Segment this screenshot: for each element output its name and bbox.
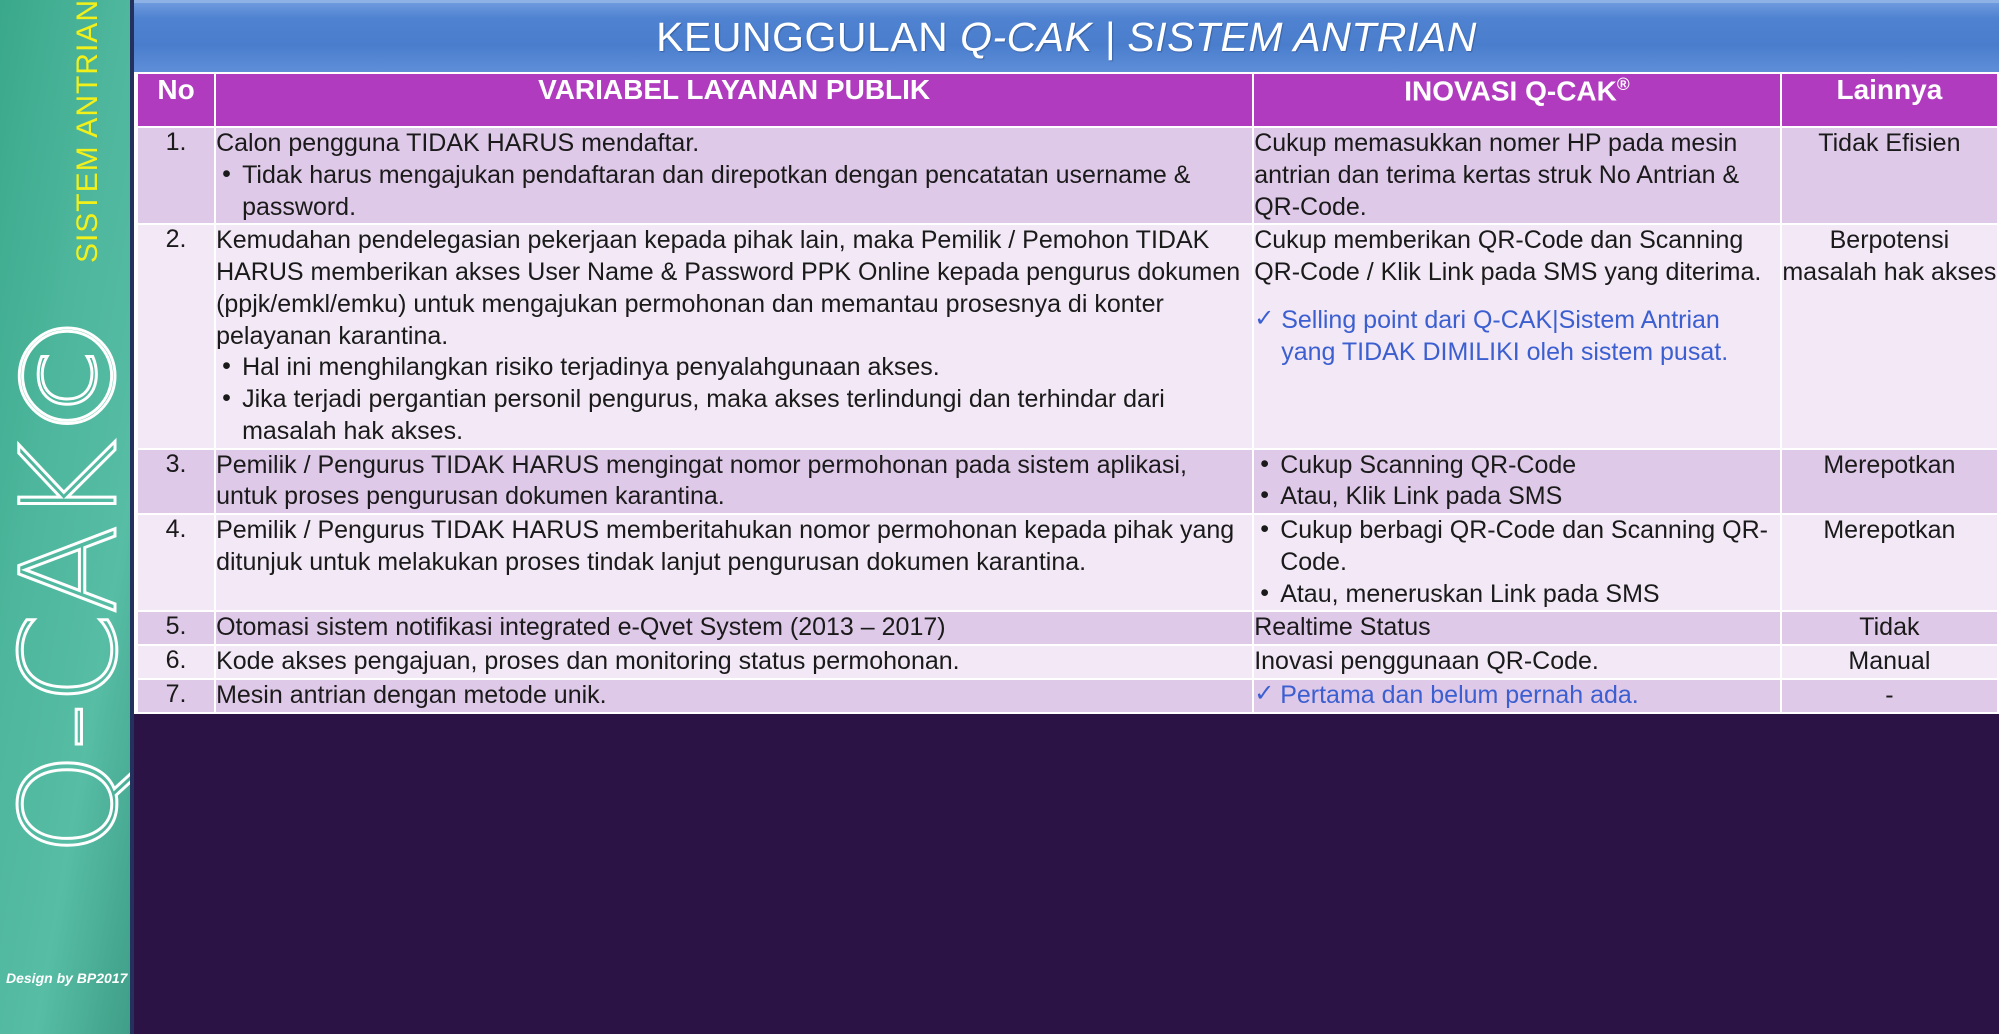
cell-no: 4. [138,515,214,610]
cell-variabel: Kemudahan pendelegasian pekerjaan kepada… [216,225,1252,447]
cell-inovasi: Cukup Scanning QR-CodeAtau, Klik Link pa… [1254,450,1780,514]
variabel-paragraph: Mesin antrian dengan metode unik. [216,680,1252,712]
brand-sidebar: Q-CAK© SISTEM ANTRIAN Design by BP2017 [0,0,130,1034]
brand-logo: Q-CAK© [4,0,130,896]
check-icon: ✓ [1254,304,1274,334]
cell-inovasi: Cukup memberikan QR-Code dan Scanning QR… [1254,225,1780,447]
cell-no: 7. [138,680,214,712]
inovasi-highlight-note: ✓Selling point dari Q-CAK|Sistem Antrian… [1254,305,1780,369]
cell-inovasi: ✓Pertama dan belum pernah ada. [1254,680,1780,712]
variabel-bullet-list: Hal ini menghilangkan risiko terjadinya … [216,352,1252,447]
check-icon: ✓ [1254,679,1274,709]
page-title: KEUNGGULAN Q-CAK | SISTEM ANTRIAN [656,14,1477,61]
cell-lainnya: Berpotensi masalah hak akses [1782,225,1997,447]
variabel-bullet-list: Tidak harus mengajukan pendaftaran dan d… [216,160,1252,224]
cell-lainnya: Merepotkan [1782,450,1997,514]
design-credit: Design by BP2017 [6,970,127,986]
col-header-inovasi-label: INOVASI Q-CAK [1404,75,1617,106]
inovasi-paragraph: Inovasi penggunaan QR-Code. [1254,646,1780,678]
table-head: No VARIABEL LAYANAN PUBLIK INOVASI Q-CAK… [138,74,1997,126]
inovasi-bullet-list: Cukup berbagi QR-Code dan Scanning QR-Co… [1254,515,1780,610]
inovasi-bullet-list: Cukup Scanning QR-CodeAtau, Klik Link pa… [1254,450,1780,514]
cell-variabel: Kode akses pengajuan, proses dan monitor… [216,646,1252,678]
cell-lainnya: Manual [1782,646,1997,678]
variabel-paragraph: Pemilik / Pengurus TIDAK HARUS memberita… [216,515,1252,579]
variabel-bullet-item: Jika terjadi pergantian personil penguru… [216,384,1252,448]
cell-lainnya: Tidak Efisien [1782,128,1997,223]
table-header-row: No VARIABEL LAYANAN PUBLIK INOVASI Q-CAK… [138,74,1997,126]
registered-trademark-icon: ® [1617,74,1630,94]
variabel-paragraph: Calon pengguna TIDAK HARUS mendaftar. [216,128,1252,160]
variabel-paragraph: Kemudahan pendelegasian pekerjaan kepada… [216,225,1252,352]
inovasi-bullet-item: Atau, Klik Link pada SMS [1254,481,1780,513]
title-bar: KEUNGGULAN Q-CAK | SISTEM ANTRIAN [134,0,1999,72]
cell-no: 2. [138,225,214,447]
brand-sidebar-inner: Q-CAK© SISTEM ANTRIAN Design by BP2017 [0,0,130,1034]
cell-inovasi: Inovasi penggunaan QR-Code. [1254,646,1780,678]
cell-variabel: Calon pengguna TIDAK HARUS mendaftar.Tid… [216,128,1252,223]
cell-variabel: Pemilik / Pengurus TIDAK HARUS memberita… [216,515,1252,610]
cell-variabel: Pemilik / Pengurus TIDAK HARUS mengingat… [216,450,1252,514]
cell-no: 5. [138,612,214,644]
inovasi-bullet-item: Cukup berbagi QR-Code dan Scanning QR-Co… [1254,515,1780,579]
cell-inovasi: Realtime Status [1254,612,1780,644]
col-header-no: No [138,74,214,126]
inovasi-bullet-item: Cukup Scanning QR-Code [1254,450,1780,482]
cell-lainnya: Merepotkan [1782,515,1997,610]
col-header-inovasi: INOVASI Q-CAK® [1254,74,1780,126]
col-header-lainnya: Lainnya [1782,74,1997,126]
table-row: 1.Calon pengguna TIDAK HARUS mendaftar.T… [138,128,1997,223]
inovasi-highlight-text: Selling point dari Q-CAK|Sistem Antrian … [1281,306,1728,366]
variabel-bullet-item: Hal ini menghilangkan risiko terjadinya … [216,352,1252,384]
cell-no: 6. [138,646,214,678]
variabel-bullet-item: Tidak harus mengajukan pendaftaran dan d… [216,160,1252,224]
inovasi-highlight-note: ✓Pertama dan belum pernah ada. [1254,680,1780,712]
variabel-paragraph: Pemilik / Pengurus TIDAK HARUS mengingat… [216,450,1252,514]
table-row: 6.Kode akses pengajuan, proses dan monit… [138,646,1997,678]
comparison-table: No VARIABEL LAYANAN PUBLIK INOVASI Q-CAK… [134,72,1999,714]
cell-lainnya: - [1782,680,1997,712]
cell-lainnya: Tidak [1782,612,1997,644]
slide-root: Q-CAK© SISTEM ANTRIAN Design by BP2017 K… [0,0,1999,1034]
table-row: 3.Pemilik / Pengurus TIDAK HARUS menging… [138,450,1997,514]
table-row: 2.Kemudahan pendelegasian pekerjaan kepa… [138,225,1997,447]
cell-inovasi: Cukup memasukkan nomer HP pada mesin ant… [1254,128,1780,223]
content-panel: KEUNGGULAN Q-CAK | SISTEM ANTRIAN No VAR… [130,0,1999,1034]
brand-subtitle: SISTEM ANTRIAN [71,0,105,559]
table-container: No VARIABEL LAYANAN PUBLIK INOVASI Q-CAK… [134,72,1999,1034]
cell-variabel: Mesin antrian dengan metode unik. [216,680,1252,712]
cell-no: 1. [138,128,214,223]
table-row: 4.Pemilik / Pengurus TIDAK HARUS memberi… [138,515,1997,610]
page-title-italic: Q-CAK | SISTEM ANTRIAN [960,14,1477,60]
variabel-paragraph: Kode akses pengajuan, proses dan monitor… [216,646,1252,678]
page-title-plain: KEUNGGULAN [656,14,960,60]
inovasi-bullet-item: Atau, meneruskan Link pada SMS [1254,579,1780,611]
brand-logo-text: Q-CAK© [0,312,130,856]
inovasi-highlight-text: Pertama dan belum pernah ada. [1280,681,1639,709]
inovasi-paragraph: Cukup memberikan QR-Code dan Scanning QR… [1254,225,1780,289]
inovasi-paragraph: Realtime Status [1254,612,1780,644]
table-row: 5.Otomasi sistem notifikasi integrated e… [138,612,1997,644]
inovasi-paragraph: Cukup memasukkan nomer HP pada mesin ant… [1254,128,1780,223]
cell-no: 3. [138,450,214,514]
col-header-variabel: VARIABEL LAYANAN PUBLIK [216,74,1252,126]
table-body: 1.Calon pengguna TIDAK HARUS mendaftar.T… [138,128,1997,712]
variabel-paragraph: Otomasi sistem notifikasi integrated e-Q… [216,612,1252,644]
cell-inovasi: Cukup berbagi QR-Code dan Scanning QR-Co… [1254,515,1780,610]
table-row: 7.Mesin antrian dengan metode unik.✓Pert… [138,680,1997,712]
cell-variabel: Otomasi sistem notifikasi integrated e-Q… [216,612,1252,644]
